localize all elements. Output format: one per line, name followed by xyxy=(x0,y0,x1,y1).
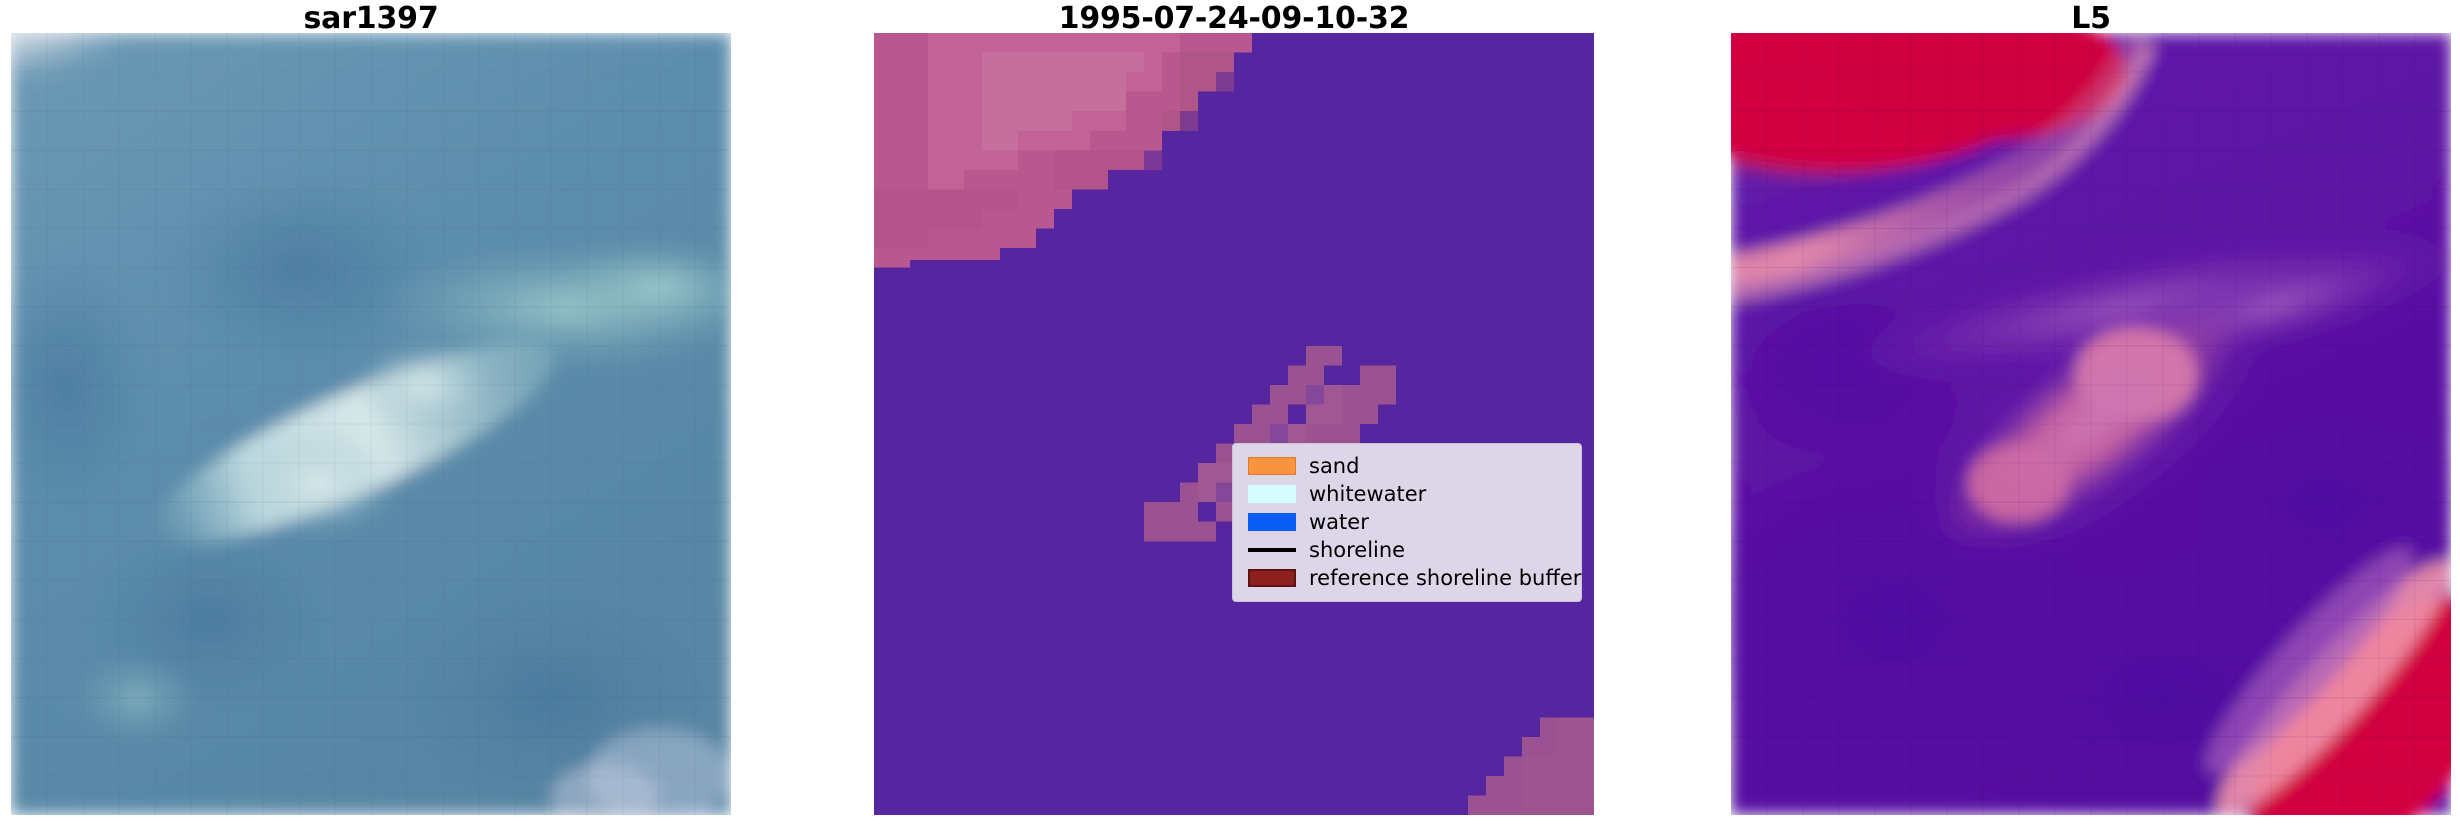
legend-item-whitewater: whitewater xyxy=(1243,480,1571,508)
legend-label-water: water xyxy=(1301,510,1369,534)
panel-title-l5: L5 xyxy=(1731,2,2451,36)
legend-swatch-whitewater-wrap xyxy=(1243,485,1301,503)
legend-swatch-shoreline-wrap xyxy=(1243,548,1301,552)
legend-box: sand whitewater water shoreline referenc xyxy=(1232,443,1582,602)
legend-swatch-water xyxy=(1248,513,1296,531)
legend-item-sand: sand xyxy=(1243,452,1571,480)
legend-swatch-sand xyxy=(1248,457,1296,475)
panel-classification: 1995-07-24-09-10-32 xyxy=(874,0,1594,830)
legend-swatch-water-wrap xyxy=(1243,513,1301,531)
legend-swatch-shoreline xyxy=(1248,548,1296,552)
sar-raster xyxy=(11,33,731,815)
panel-title-classification: 1995-07-24-09-10-32 xyxy=(874,2,1594,36)
legend-label-sand: sand xyxy=(1301,454,1359,478)
panel-l5: L5 xyxy=(1731,0,2451,830)
legend-label-reference-shoreline-buffer: reference shoreline buffer xyxy=(1301,566,1581,590)
legend-item-shoreline: shoreline xyxy=(1243,536,1571,564)
legend-swatch-reference-shoreline-buffer-wrap xyxy=(1243,569,1301,587)
legend-label-shoreline: shoreline xyxy=(1301,538,1405,562)
panel-title-sar: sar1397 xyxy=(11,2,731,36)
classification-raster xyxy=(874,33,1594,815)
legend-swatch-reference-shoreline-buffer xyxy=(1248,569,1296,587)
panel-sar1397: sar1397 xyxy=(11,0,731,830)
axes-classification xyxy=(874,33,1594,815)
legend-label-whitewater: whitewater xyxy=(1301,482,1426,506)
legend-swatch-sand-wrap xyxy=(1243,457,1301,475)
legend-item-reference-shoreline-buffer: reference shoreline buffer xyxy=(1243,564,1571,592)
axes-sar xyxy=(11,33,731,815)
axes-l5 xyxy=(1731,33,2451,815)
legend-swatch-whitewater xyxy=(1248,485,1296,503)
figure-canvas: sar1397 xyxy=(0,0,2460,830)
legend-item-water: water xyxy=(1243,508,1571,536)
l5-raster xyxy=(1731,33,2451,815)
